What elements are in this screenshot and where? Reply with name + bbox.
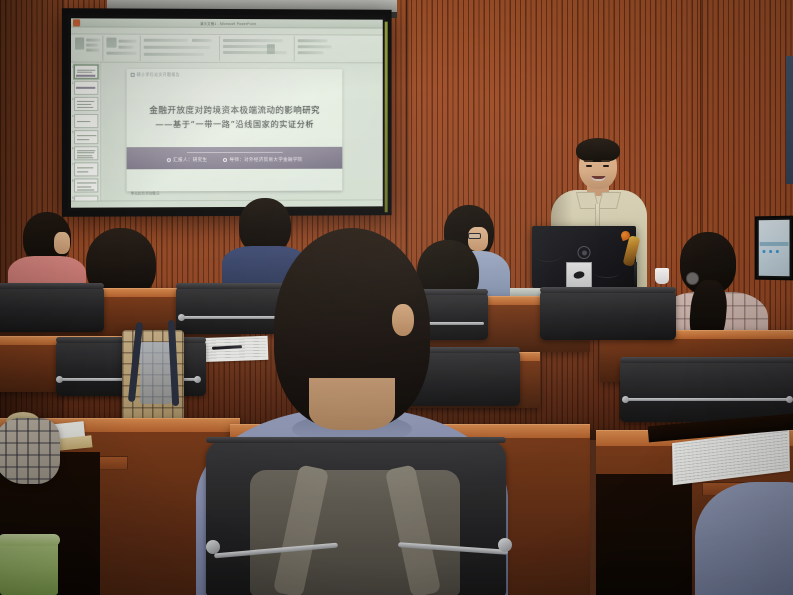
slide-thumbnail[interactable]: 7: [74, 162, 98, 176]
chair-hinge: [786, 396, 793, 403]
band-divider: [187, 152, 282, 153]
laptop-cable: [594, 268, 620, 278]
chair-top-edge: [620, 357, 793, 363]
powerpoint-title-text: 演示文稿1 - Microsoft PowerPoint: [200, 20, 256, 25]
monitor-cable: [534, 246, 562, 262]
align-icon[interactable]: [267, 44, 275, 54]
slide-thumbnail[interactable]: 5: [74, 130, 98, 144]
ribbon-group-clipboard: [73, 35, 103, 60]
ribbon-row: [298, 45, 332, 48]
powerpoint-ribbon: [71, 34, 383, 63]
ribbon-group-slides: [104, 36, 140, 61]
slide-thumbnail[interactable]: 1: [74, 65, 98, 79]
presenter-label: 汇报人：研究生: [173, 158, 207, 163]
lecture-room-photo: 演示文稿1 - Microsoft PowerPoint 文件 开始 插入 设计…: [0, 0, 793, 595]
slide-thumbnail[interactable]: 2: [74, 81, 98, 95]
side-monitor-dot: [776, 250, 778, 253]
ribbon-row: [86, 49, 99, 52]
attendee-torso: [695, 482, 793, 595]
placeholder-box-icon: [131, 72, 135, 76]
slide-header-text: 硕士学位论文开题报告: [131, 72, 180, 78]
attendee-ear: [392, 304, 414, 336]
paste-icon[interactable]: [75, 37, 84, 49]
notes-placeholder[interactable]: 单击此处添加备注: [131, 191, 160, 196]
projection-screen-surface: 演示文稿1 - Microsoft PowerPoint 文件 开始 插入 设计…: [71, 18, 383, 207]
band-text-row: 汇报人：研究生 导师：对外经济贸易大学金融学院: [127, 157, 343, 163]
slide-editing-canvas[interactable]: 硕士学位论文开题报告 金融开放度对跨境资本极端流动的影响研究 ——基于“一带一路…: [102, 63, 382, 201]
slide-number: 5: [72, 131, 73, 134]
ribbon-row: [298, 51, 324, 54]
slide-number: 9: [72, 196, 73, 199]
desk-under-shadow: [596, 474, 692, 595]
ribbon-row: [298, 39, 328, 42]
presenter-hair: [576, 138, 620, 162]
new-slide-icon[interactable]: [106, 38, 116, 48]
ribbon-row: [86, 44, 98, 47]
school-icon: [223, 158, 227, 162]
slide-title-line-1: 金融开放度对跨境资本极端流动的影响研究: [127, 105, 343, 118]
chair-hinge: [622, 396, 629, 403]
ribbon-row: [144, 53, 204, 56]
chair-back-center2[interactable]: [540, 290, 676, 340]
slide-header-label: 硕士学位论文开题报告: [137, 72, 180, 77]
slide-thumbnail-panel[interactable]: 1 2 3 4: [71, 63, 101, 201]
dell-logo-icon: [578, 246, 591, 259]
ribbon-row: [119, 40, 137, 43]
ribbon-row: [119, 46, 134, 49]
font-name-box[interactable]: [144, 39, 188, 42]
slide-thumbnail[interactable]: 4: [74, 114, 98, 128]
slide-number: 1: [72, 66, 73, 69]
chair-top-edge: [0, 283, 104, 289]
slide-number: 8: [72, 180, 73, 183]
slide-number: 4: [72, 115, 73, 118]
tote-pocket: [140, 342, 172, 404]
slide-number: 2: [72, 82, 73, 85]
chair-hinge: [178, 314, 185, 321]
chair-rail: [624, 398, 792, 401]
side-monitor-dot: [769, 250, 771, 252]
ribbon-row: [144, 46, 210, 49]
font-size-box[interactable]: [192, 39, 212, 42]
chair-hinge-foreground-right: [498, 538, 512, 552]
advisor-entry: 导师：对外经济贸易大学金融学院: [223, 157, 302, 163]
slide-title-block: 金融开放度对跨境资本极端流动的影响研究 ——基于“一带一路”沿线国家的实证分析: [127, 105, 343, 131]
office-logo-icon: [73, 19, 80, 26]
green-cup-lid: [0, 534, 60, 546]
chair-top-edge: [206, 437, 506, 443]
slide-number: 6: [72, 147, 73, 150]
advisor-label: 导师：对外经济贸易大学金融学院: [229, 158, 302, 163]
projection-screen: 演示文稿1 - Microsoft PowerPoint 文件 开始 插入 设计…: [62, 8, 392, 217]
laptop-lid: [566, 262, 592, 288]
ribbon-row: [106, 52, 136, 55]
presenter-entry: 汇报人：研究生: [167, 157, 207, 163]
chair-top-edge: [540, 287, 676, 293]
microphone-stand: [634, 262, 637, 290]
ribbon-row: [223, 39, 283, 42]
chair-mid-right[interactable]: [620, 360, 793, 422]
attendee-neck: [309, 378, 395, 430]
ribbon-group-editing: [296, 36, 340, 61]
current-slide[interactable]: 硕士学位论文开题报告 金融开放度对跨境资本极端流动的影响研究 ——基于“一带一路…: [127, 69, 343, 192]
wall-blue-strip: [786, 56, 793, 184]
hair-tie: [686, 272, 699, 285]
chair-hinge: [56, 376, 63, 383]
slide-number: 3: [72, 98, 73, 101]
person-icon: [167, 158, 171, 162]
ribbon-group-paragraph: [221, 36, 295, 61]
attendee-right-edge: [700, 470, 793, 595]
slide-number: 7: [72, 163, 73, 166]
chair-hinge-foreground-left: [206, 540, 220, 554]
ribbon-row: [223, 51, 287, 54]
ribbon-group-font: [142, 36, 220, 61]
ribbon-row: [86, 39, 100, 42]
slide-thumbnail[interactable]: 3: [74, 97, 98, 111]
slide-info-band: 汇报人：研究生 导师：对外经济贸易大学金融学院: [127, 147, 343, 169]
screen-edge-highlight: [385, 22, 388, 213]
presenter-brow-left: [584, 160, 593, 162]
slide-thumbnail[interactable]: 8: [74, 179, 98, 193]
plaid-bag-left: [0, 418, 60, 484]
slide-thumbnail[interactable]: 6: [74, 146, 98, 160]
presenter-brow-right: [601, 160, 610, 162]
chair-back-left[interactable]: [0, 286, 104, 332]
slide-title-line-2: ——基于“一带一路”沿线国家的实证分析: [127, 118, 343, 131]
